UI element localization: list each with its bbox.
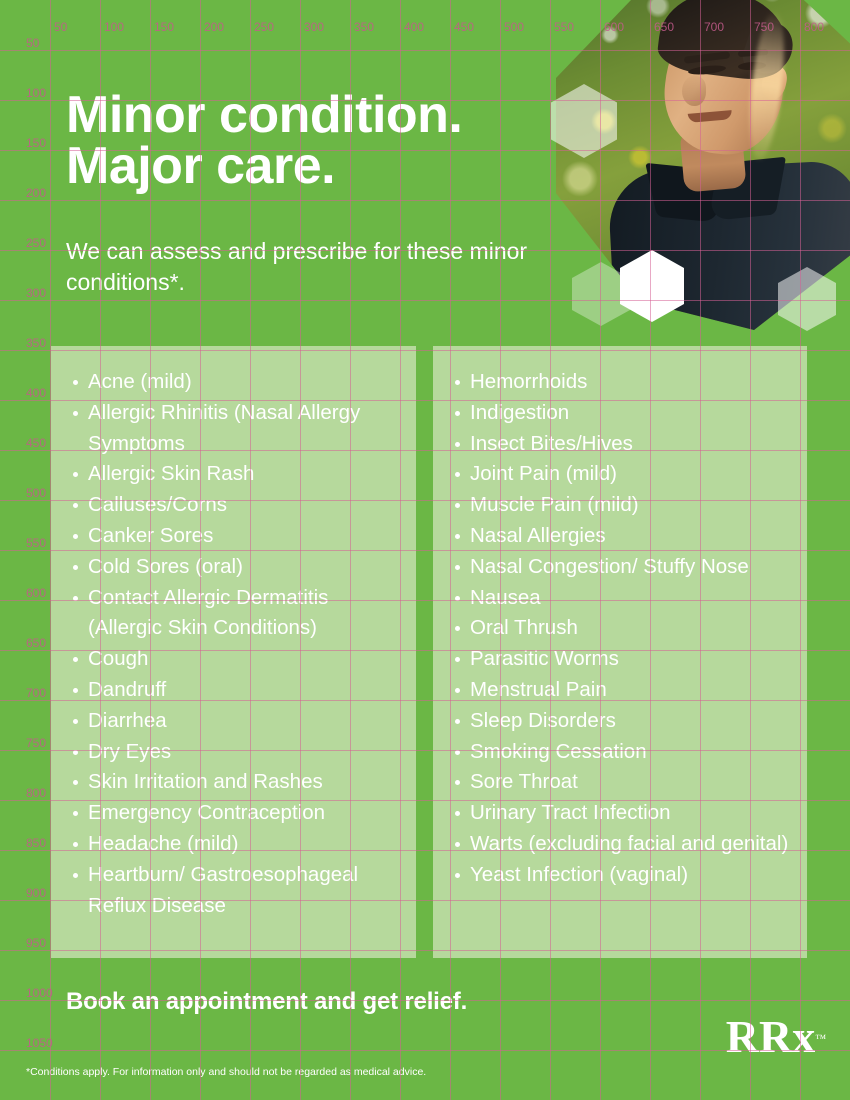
grid-label-y: 600	[26, 586, 46, 600]
list-item: Emergency Contraception	[69, 798, 400, 829]
headline-line-2: Major care.	[66, 141, 536, 192]
grid-label-y: 500	[26, 486, 46, 500]
list-item: Sleep Disorders	[451, 706, 791, 737]
list-item: Joint Pain (mild)	[451, 459, 791, 490]
list-item: Allergic Skin Rash	[69, 459, 400, 490]
grid-label-y: 50	[26, 36, 39, 50]
grid-label-y: 750	[26, 736, 46, 750]
list-item: Allergic Rhinitis (Nasal Allergy Symptom…	[69, 398, 400, 460]
conditions-panel-right: HemorrhoidsIndigestionInsect Bites/Hives…	[433, 346, 807, 958]
list-item: Diarrhea	[69, 706, 400, 737]
grid-label-y: 300	[26, 286, 46, 300]
list-item: Hemorrhoids	[451, 367, 791, 398]
grid-label-y: 350	[26, 336, 46, 350]
list-item: Parasitic Worms	[451, 644, 791, 675]
grid-line-horizontal	[0, 1050, 850, 1051]
brand-logo: RRx™	[726, 1014, 826, 1060]
grid-label-y: 650	[26, 636, 46, 650]
list-item: Nausea	[451, 583, 791, 614]
list-item: Smoking Cessation	[451, 737, 791, 768]
list-item: Yeast Infection (vaginal)	[451, 860, 791, 891]
list-item: Skin Irritation and Rashes	[69, 767, 400, 798]
grid-label-y: 800	[26, 786, 46, 800]
grid-label-x: 550	[554, 20, 574, 34]
conditions-list-right: HemorrhoidsIndigestionInsect Bites/Hives…	[433, 346, 807, 891]
disclaimer-text: *Conditions apply. For information only …	[26, 1066, 426, 1078]
list-item: Nasal Allergies	[451, 521, 791, 552]
poster-canvas: Minor condition. Major care. We can asse…	[0, 0, 850, 1100]
conditions-list-left: Acne (mild)Allergic Rhinitis (Nasal Alle…	[51, 346, 416, 921]
trademark-icon: ™	[815, 1033, 826, 1045]
cta-text: Book an appointment and get relief.	[66, 988, 467, 1016]
grid-label-y: 250	[26, 236, 46, 250]
brand-logo-text: RRx	[726, 1011, 815, 1062]
grid-label-x: 250	[254, 20, 274, 34]
grid-label-y: 100	[26, 86, 46, 100]
grid-label-y: 1050	[26, 1036, 53, 1050]
grid-label-x: 450	[454, 20, 474, 34]
grid-label-x: 350	[354, 20, 374, 34]
list-item: Dandruff	[69, 675, 400, 706]
grid-label-x: 400	[404, 20, 424, 34]
grid-label-y: 850	[26, 836, 46, 850]
grid-label-y: 150	[26, 136, 46, 150]
list-item: Canker Sores	[69, 521, 400, 552]
list-item: Nasal Congestion/ Stuffy Nose	[451, 552, 791, 583]
grid-label-x: 500	[504, 20, 524, 34]
list-item: Muscle Pain (mild)	[451, 490, 791, 521]
grid-label-y: 900	[26, 886, 46, 900]
grid-label-y: 700	[26, 686, 46, 700]
list-item: Acne (mild)	[69, 367, 400, 398]
grid-label-y: 1000	[26, 986, 53, 1000]
grid-label-y: 200	[26, 186, 46, 200]
grid-label-y: 450	[26, 436, 46, 450]
list-item: Indigestion	[451, 398, 791, 429]
list-item: Heartburn/ Gastroesophageal Reflux Disea…	[69, 860, 400, 922]
list-item: Cold Sores (oral)	[69, 552, 400, 583]
grid-label-x: 200	[204, 20, 224, 34]
list-item: Contact Allergic Dermatitis (Allergic Sk…	[69, 583, 400, 645]
grid-label-y: 550	[26, 536, 46, 550]
list-item: Sore Throat	[451, 767, 791, 798]
list-item: Cough	[69, 644, 400, 675]
grid-label-x: 150	[154, 20, 174, 34]
grid-label-x: 50	[54, 20, 67, 34]
person-nose	[682, 76, 706, 106]
headline-line-1: Minor condition.	[66, 86, 462, 144]
subheading: We can assess and prescribe for these mi…	[66, 236, 546, 298]
conditions-panel-left: Acne (mild)Allergic Rhinitis (Nasal Alle…	[51, 346, 416, 958]
list-item: Oral Thrush	[451, 613, 791, 644]
grid-label-x: 100	[104, 20, 124, 34]
list-item: Headache (mild)	[69, 829, 400, 860]
list-item: Calluses/Corns	[69, 490, 400, 521]
page-title: Minor condition. Major care.	[66, 90, 536, 192]
grid-label-x: 300	[304, 20, 324, 34]
grid-label-y: 950	[26, 936, 46, 950]
list-item: Insect Bites/Hives	[451, 429, 791, 460]
grid-label-y: 400	[26, 386, 46, 400]
list-item: Menstrual Pain	[451, 675, 791, 706]
list-item: Warts (excluding facial and genital)	[451, 829, 791, 860]
list-item: Urinary Tract Infection	[451, 798, 791, 829]
list-item: Dry Eyes	[69, 737, 400, 768]
